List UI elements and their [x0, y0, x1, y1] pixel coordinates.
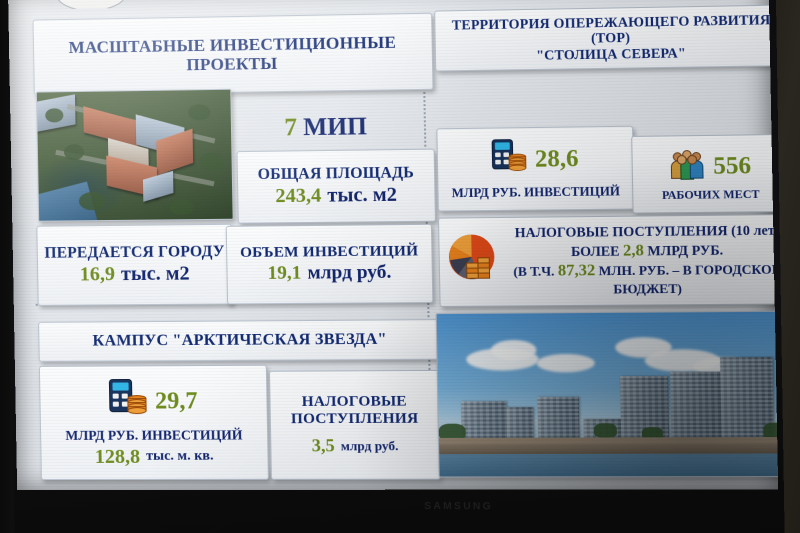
campus-title-text: КАМПУС "АРКТИЧЕСКАЯ ЗВЕЗДА" — [92, 331, 387, 351]
calculator-coins-icon — [491, 137, 527, 183]
card-transferred-to-city: ПЕРЕДАЕТСЯ ГОРОДУ 16,9 тыс. м2 — [36, 224, 233, 306]
tor-tax-line2-prefix: БОЛЕЕ — [571, 243, 620, 259]
campus-investment-unit: МЛРД РУБ. ИНВЕСТИЦИЙ — [65, 427, 242, 444]
card-tor-title: ТЕРРИТОРИЯ ОПЕРЕЖАЮЩЕГО РАЗВИТИЯ (ТОР) "… — [434, 4, 778, 71]
mip-title-text: МАСШТАБНЫЕ ИНВЕСТИЦИОННЫЕ ПРОЕКТЫ — [44, 32, 422, 76]
campus-investment-value: 29,7 — [155, 388, 198, 415]
card-tor-tax: НАЛОГОВЫЕ ПОСТУПЛЕНИЯ (10 лет) БОЛЕЕ 2,8… — [438, 214, 778, 307]
tor-investment-unit: МЛРД РУБ. ИНВЕСТИЦИЙ — [452, 184, 621, 201]
total-area-value: 243,4 — [275, 185, 321, 209]
campus-tax-label: НАЛОГОВЫЕ ПОСТУПЛЕНИЯ — [277, 393, 433, 428]
room-photograph: SAMSUNG МАСШТАБНЫЕ ИНВЕСТИЦИОННЫЕ ПРОЕКТ… — [0, 0, 800, 533]
tor-title-line2: "СТОЛИЦА СЕВЕРА" — [536, 45, 686, 63]
city-render-image — [437, 312, 779, 477]
mip-count-number: 7 — [284, 114, 297, 142]
tor-title-line1: ТЕРРИТОРИЯ ОПЕРЕЖАЮЩЕГО РАЗВИТИЯ (ТОР) — [444, 12, 779, 48]
campus-area-value: 128,8 — [95, 445, 141, 468]
investment-volume-value: 19,1 — [267, 263, 301, 285]
card-mip-count: 7 МИП — [236, 104, 416, 151]
pie-chart-coins-icon — [443, 229, 502, 296]
tor-tax-line1: НАЛОГОВЫЕ ПОСТУПЛЕНИЯ (10 лет) — [507, 223, 778, 243]
card-campus-tax: НАЛОГОВЫЕ ПОСТУПЛЕНИЯ 3,5 млрд руб. — [269, 370, 441, 480]
total-area-label: ОБЩАЯ ПЛОЩАДЬ — [258, 164, 415, 183]
campus-area-unit: тыс. м. кв. — [146, 449, 214, 465]
tor-tax-line3-prefix: (В Т.Ч. — [513, 264, 554, 280]
card-investment-volume: ОБЪЕМ ИНВЕСТИЦИЙ 19,1 млрд руб. — [226, 224, 434, 305]
tor-jobs-value: 556 — [713, 152, 751, 180]
total-area-unit: тыс. м2 — [327, 184, 397, 208]
investment-volume-label: ОБЪЕМ ИНВЕСТИЦИЙ — [240, 243, 418, 262]
tor-investment-value: 28,6 — [535, 146, 579, 174]
people-group-icon — [669, 147, 705, 187]
aerial-render-image — [37, 90, 233, 221]
transferred-unit: тыс. м2 — [121, 263, 190, 287]
tor-tax-line2-suffix: МЛРД РУБ. — [647, 242, 723, 258]
card-tor-jobs: 556 РАБОЧИХ МЕСТ — [631, 134, 778, 214]
mip-count-unit: МИП — [303, 113, 367, 142]
monitor-screen: МАСШТАБНЫЕ ИНВЕСТИЦИОННЫЕ ПРОЕКТЫ — [8, 0, 778, 490]
samsung-brand-logo: SAMSUNG — [424, 501, 493, 513]
card-campus-title: КАМПУС "АРКТИЧЕСКАЯ ЗВЕЗДА" — [38, 319, 443, 362]
tor-jobs-unit: РАБОЧИХ МЕСТ — [662, 188, 760, 201]
calculator-coins-icon — [108, 377, 147, 426]
card-tor-investment: 28,6 МЛРД РУБ. ИНВЕСТИЦИЙ — [436, 126, 634, 212]
tor-tax-line2-value: 2,8 — [623, 242, 644, 260]
presentation-slide: МАСШТАБНЫЕ ИНВЕСТИЦИОННЫЕ ПРОЕКТЫ — [24, 0, 763, 474]
campus-tax-unit: млрд руб. — [341, 438, 399, 454]
card-campus-investment: 29,7 МЛРД РУБ. ИНВЕСТИЦИЙ 128,8 тыс. м. … — [39, 365, 269, 480]
tor-tax-line3-suffix: МЛН. РУБ. – В ГОРОДСКОЙ БЮДЖЕТ) — [598, 262, 778, 297]
render-photo-card — [436, 311, 779, 478]
tor-tax-line3: (В Т.Ч. 87,32 МЛН. РУБ. – В ГОРОДСКОЙ БЮ… — [508, 260, 778, 298]
card-major-investment-projects-title: МАСШТАБНЫЕ ИНВЕСТИЦИОННЫЕ ПРОЕКТЫ — [33, 13, 434, 96]
tor-tax-line2: БОЛЕЕ 2,8 МЛРД РУБ. — [508, 240, 779, 262]
tor-tax-line3-value: 87,32 — [558, 262, 596, 280]
transferred-label: ПЕРЕДАЕТСЯ ГОРОДУ — [44, 243, 224, 262]
aerial-photo-card — [36, 89, 234, 222]
card-total-area: ОБЩАЯ ПЛОЩАДЬ 243,4 тыс. м2 — [236, 149, 436, 224]
investment-volume-unit: млрд руб. — [307, 262, 391, 285]
transferred-value: 16,9 — [80, 263, 116, 286]
coat-of-arms-icon — [50, 0, 133, 9]
campus-tax-value: 3,5 — [312, 435, 335, 456]
